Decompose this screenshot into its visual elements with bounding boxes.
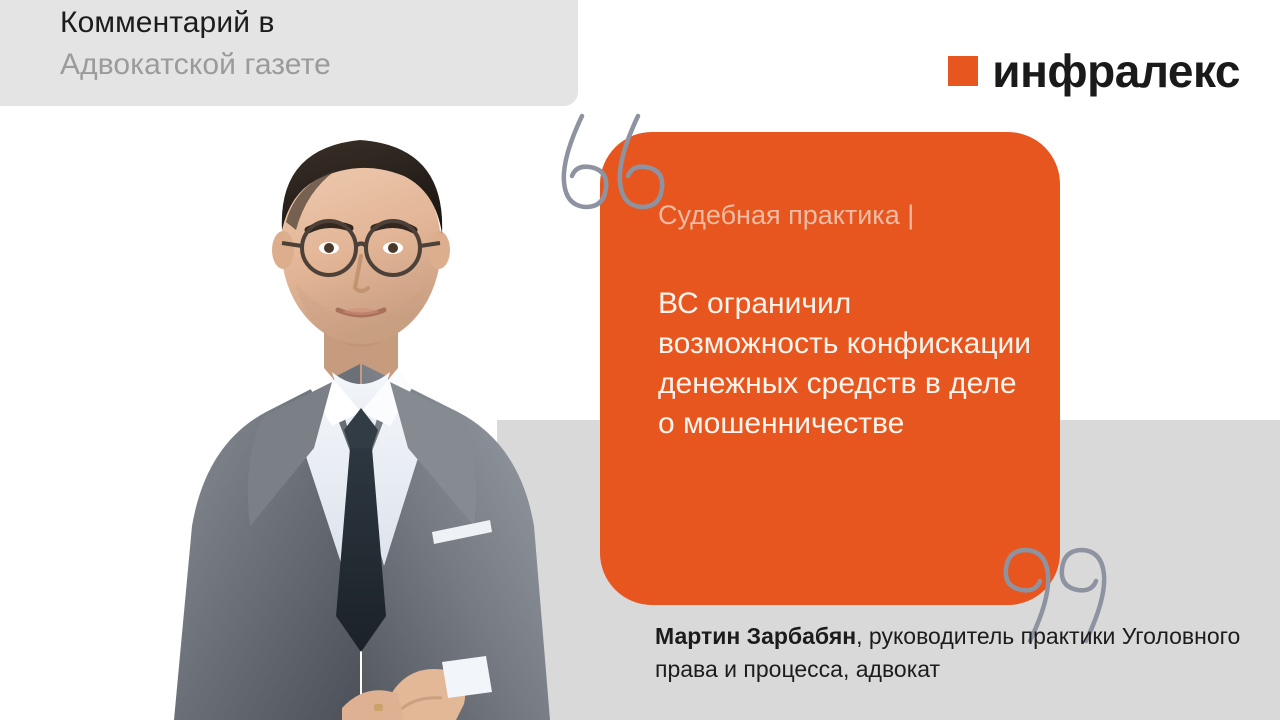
slide-canvas: Комментарий в Адвокатской газете инфрале… xyxy=(0,0,1280,720)
card-title: ВС ограничил возможность конфискации ден… xyxy=(658,284,1038,444)
brand-square-icon xyxy=(948,56,978,86)
brand-name: инфралекс xyxy=(992,48,1240,94)
quote-open-icon xyxy=(548,108,678,218)
brand-logo: инфралекс xyxy=(948,48,1240,94)
portrait-photo xyxy=(146,96,576,720)
attribution-name: Мартин Зарбабян xyxy=(655,623,856,649)
header-plate: Комментарий в Адвокатской газете xyxy=(0,0,578,106)
card-kicker: Судебная практика | xyxy=(658,200,914,231)
header-title-line1: Комментарий в xyxy=(60,6,275,40)
header-title-line2: Адвокатской газете xyxy=(60,48,331,82)
attribution: Мартин Зарбабян, руководитель практики У… xyxy=(655,620,1255,685)
